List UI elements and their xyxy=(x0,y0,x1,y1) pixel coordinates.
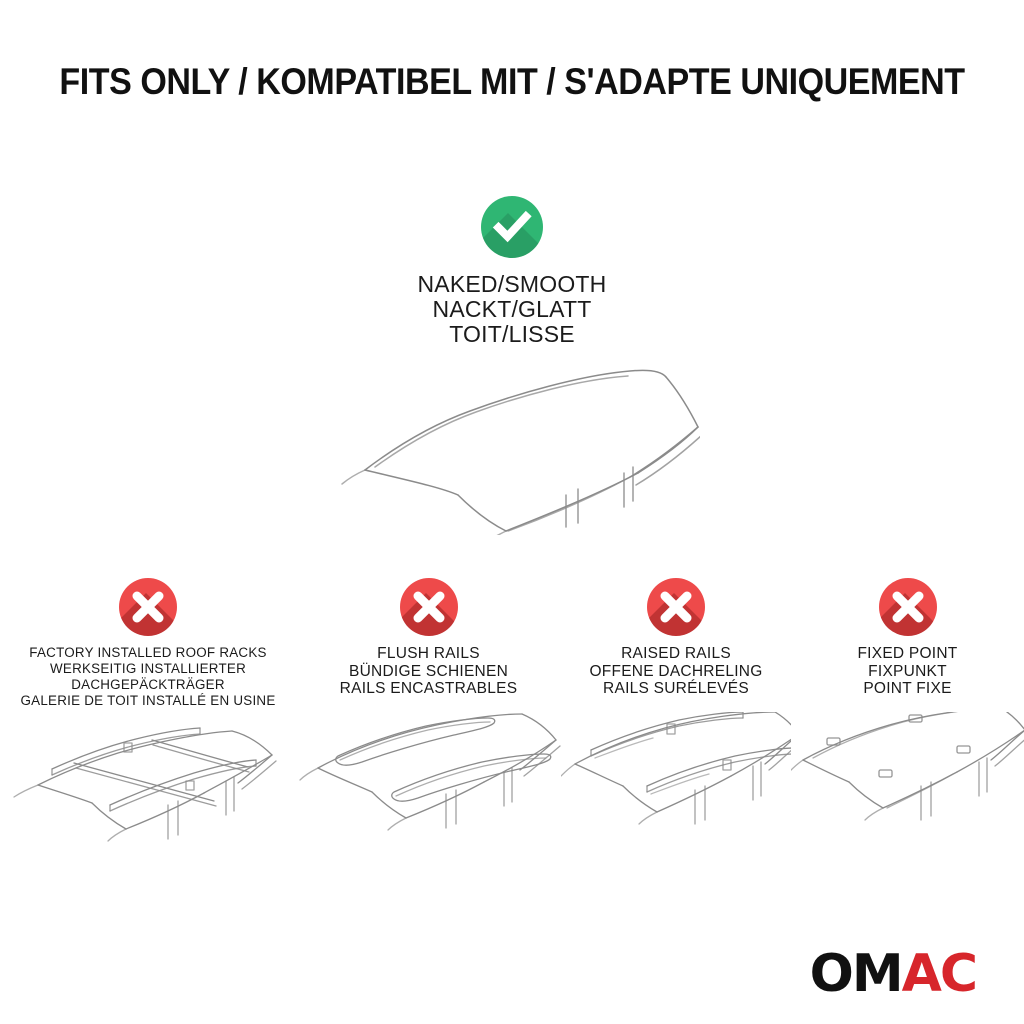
logo-text-om: OM xyxy=(810,944,902,1004)
header: FITS ONLY / KOMPATIBEL MIT / S'ADAPTE UN… xyxy=(0,62,1024,103)
label-line-3: RAILS SURÉLEVÉS xyxy=(561,680,791,698)
x-mark-glyph xyxy=(647,578,705,636)
incompatible-item-flush-rails: FLUSH RAILS BÜNDIGE SCHIENEN RAILS ENCAS… xyxy=(296,578,561,832)
fitment-infographic: FITS ONLY / KOMPATIBEL MIT / S'ADAPTE UN… xyxy=(0,0,1024,1024)
incompatible-section: FACTORY INSTALLED ROOF RACKS WERKSEITIG … xyxy=(0,578,1024,843)
car-roof-raised-rails-illustration xyxy=(561,712,791,832)
check-circle-icon xyxy=(481,196,543,258)
compatible-label-fr: TOIT/LISSE xyxy=(0,322,1024,347)
compatible-label-de: NACKT/GLATT xyxy=(0,297,1024,322)
incompatible-labels: FLUSH RAILS BÜNDIGE SCHIENEN RAILS ENCAS… xyxy=(296,645,561,698)
omac-logo: OMAC xyxy=(810,948,976,1000)
roof-line-art xyxy=(296,712,561,832)
page-title: FITS ONLY / KOMPATIBEL MIT / S'ADAPTE UN… xyxy=(41,62,983,103)
compatible-section: NAKED/SMOOTH NACKT/GLATT TOIT/LISSE xyxy=(0,196,1024,347)
label-line-4: GALERIE DE TOIT INSTALLÉ EN USINE xyxy=(0,693,296,709)
label-line-2: WERKSEITIG INSTALLIERTER xyxy=(0,661,296,677)
label-line-1: FACTORY INSTALLED ROOF RACKS xyxy=(0,645,296,661)
x-mark-glyph xyxy=(879,578,937,636)
label-line-2: FIXPUNKT xyxy=(791,663,1024,681)
check-mark-glyph xyxy=(481,196,543,258)
label-line-3: RAILS ENCASTRABLES xyxy=(296,680,561,698)
x-mark-glyph xyxy=(119,578,177,636)
incompatible-labels: FIXED POINT FIXPUNKT POINT FIXE xyxy=(791,645,1024,698)
car-roof-fixed-point-illustration xyxy=(791,712,1024,832)
roof-line-art xyxy=(330,355,700,535)
incompatible-item-raised-rails: RAISED RAILS OFFENE DACHRELING RAILS SUR… xyxy=(561,578,791,832)
roof-line-art xyxy=(0,723,296,843)
label-line-3: DACHGEPÄCKTRÄGER xyxy=(0,677,296,693)
label-line-1: FLUSH RAILS xyxy=(296,645,561,663)
x-circle-icon xyxy=(119,578,177,636)
roof-line-art xyxy=(561,712,791,832)
x-circle-icon xyxy=(647,578,705,636)
incompatible-labels: RAISED RAILS OFFENE DACHRELING RAILS SUR… xyxy=(561,645,791,698)
label-line-2: OFFENE DACHRELING xyxy=(561,663,791,681)
label-line-1: RAISED RAILS xyxy=(561,645,791,663)
x-circle-icon xyxy=(879,578,937,636)
x-mark-glyph xyxy=(400,578,458,636)
incompatible-labels: FACTORY INSTALLED ROOF RACKS WERKSEITIG … xyxy=(0,645,296,709)
car-roof-flush-rails-illustration xyxy=(296,712,561,832)
label-line-2: BÜNDIGE SCHIENEN xyxy=(296,663,561,681)
x-circle-icon xyxy=(400,578,458,636)
car-roof-naked-smooth-illustration xyxy=(330,355,700,535)
incompatible-item-fixed-point: FIXED POINT FIXPUNKT POINT FIXE xyxy=(791,578,1024,832)
label-line-1: FIXED POINT xyxy=(791,645,1024,663)
logo-text-ac: AC xyxy=(902,944,976,1004)
roof-line-art xyxy=(791,712,1024,832)
incompatible-item-factory-racks: FACTORY INSTALLED ROOF RACKS WERKSEITIG … xyxy=(0,578,296,843)
compatible-labels: NAKED/SMOOTH NACKT/GLATT TOIT/LISSE xyxy=(0,272,1024,347)
car-roof-factory-installed-racks-illustration xyxy=(0,723,296,843)
label-line-3: POINT FIXE xyxy=(791,680,1024,698)
compatible-label-en: NAKED/SMOOTH xyxy=(0,272,1024,297)
